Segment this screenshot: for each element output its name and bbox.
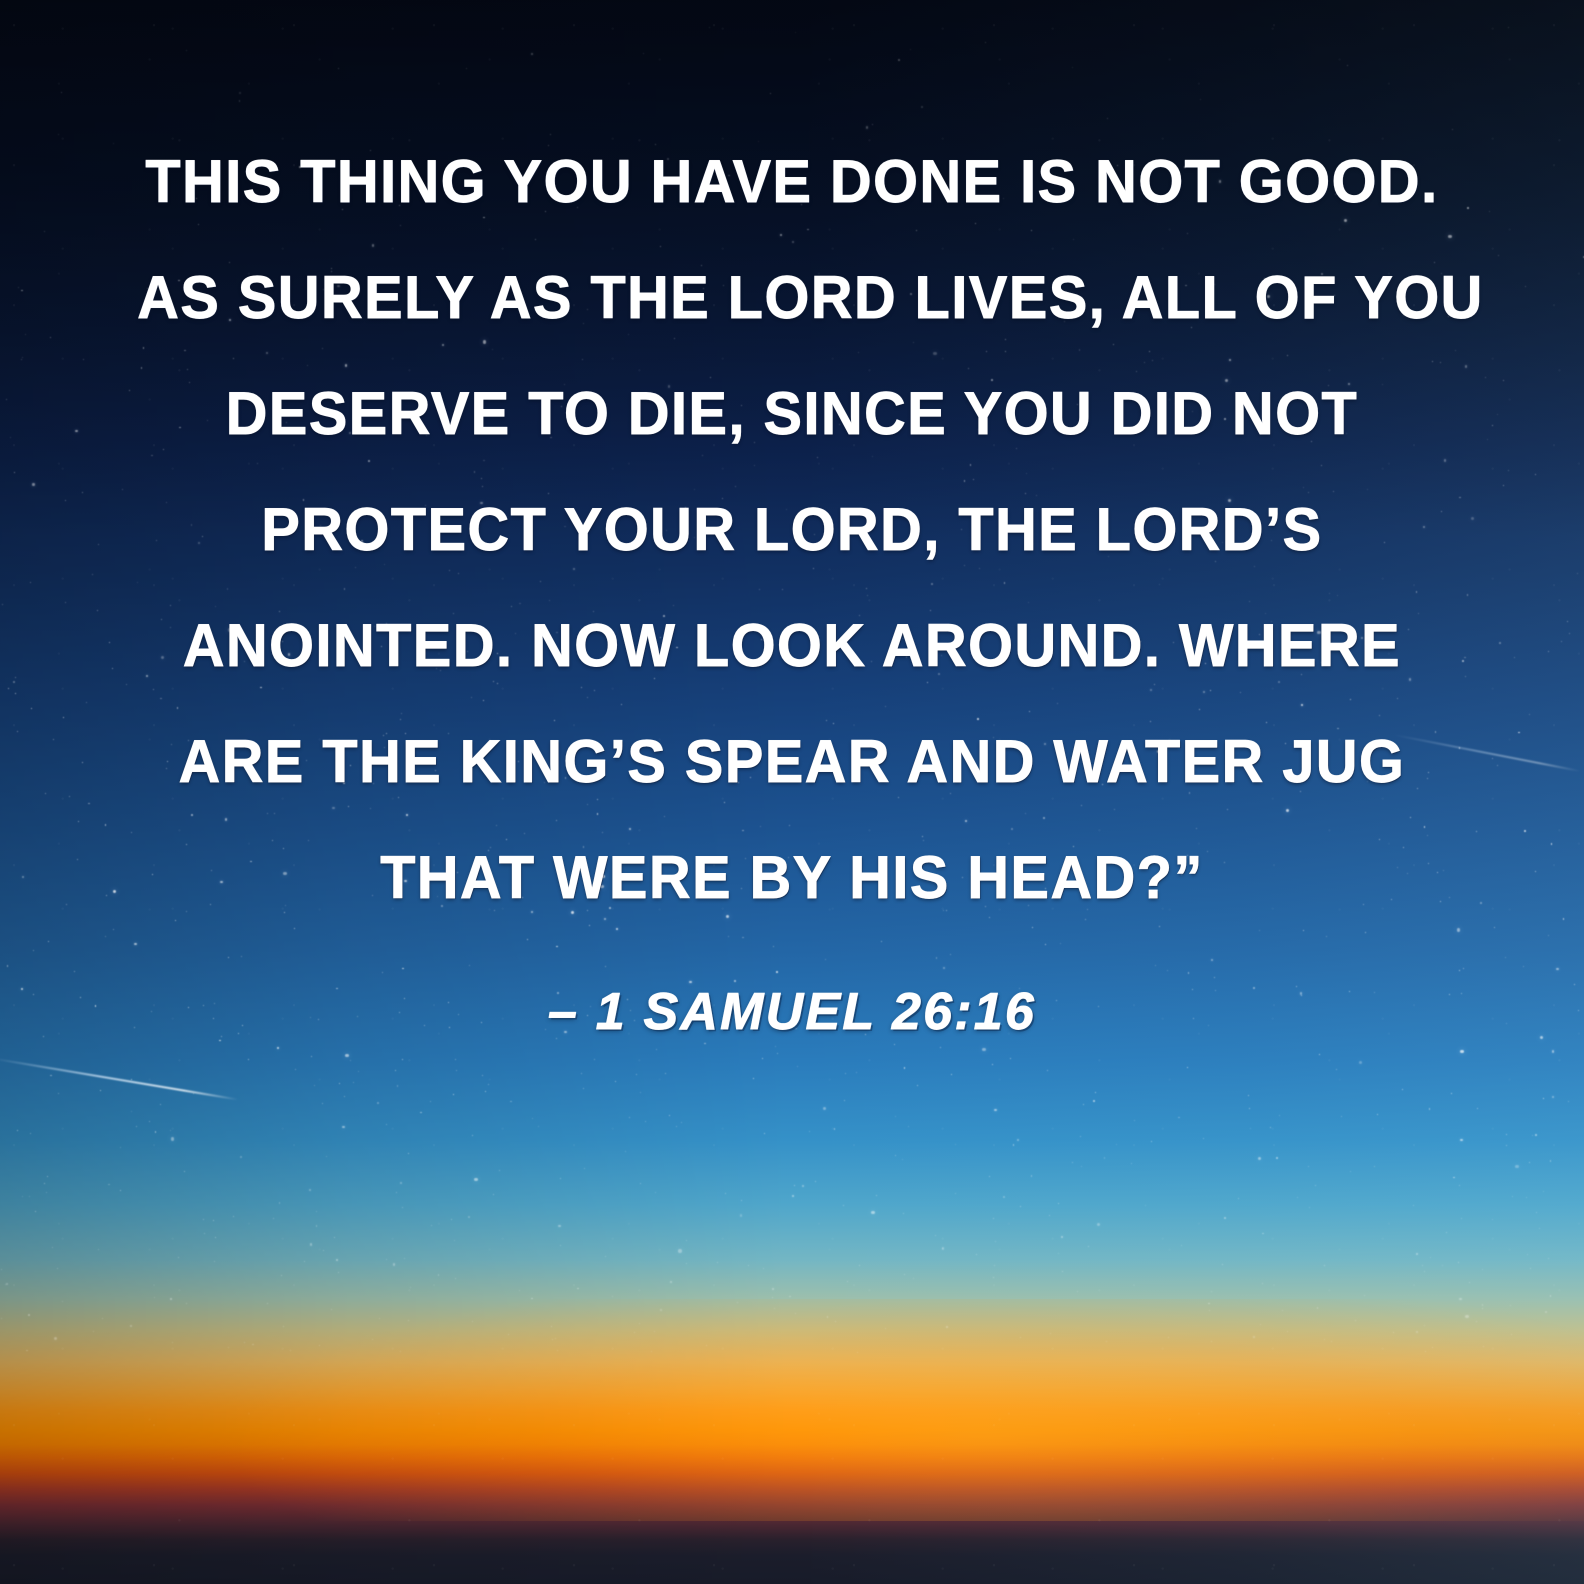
verse-line-3: DESERVE TO DIE, SINCE YOU DID NOT	[137, 356, 1446, 472]
verse-image-canvas: THIS THING YOU HAVE DONE IS NOT GOOD. AS…	[0, 0, 1584, 1584]
verse-line-2: AS SURELY AS THE LORD LIVES, ALL OF YOU	[137, 240, 1446, 356]
verse-citation: – 1 SAMUEL 26:16	[110, 982, 1474, 1042]
verse-line-5: ANOINTED. NOW LOOK AROUND. WHERE	[137, 588, 1446, 704]
verse-line-1: THIS THING YOU HAVE DONE IS NOT GOOD.	[137, 124, 1446, 240]
verse-line-4: PROTECT YOUR LORD, THE LORD’S	[137, 472, 1446, 588]
verse-line-7: THAT WERE BY HIS HEAD?”	[137, 820, 1446, 936]
verse-line-6: ARE THE KING’S SPEAR AND WATER JUG	[137, 704, 1446, 820]
verse-text-block: THIS THING YOU HAVE DONE IS NOT GOOD. AS…	[0, 124, 1584, 1042]
